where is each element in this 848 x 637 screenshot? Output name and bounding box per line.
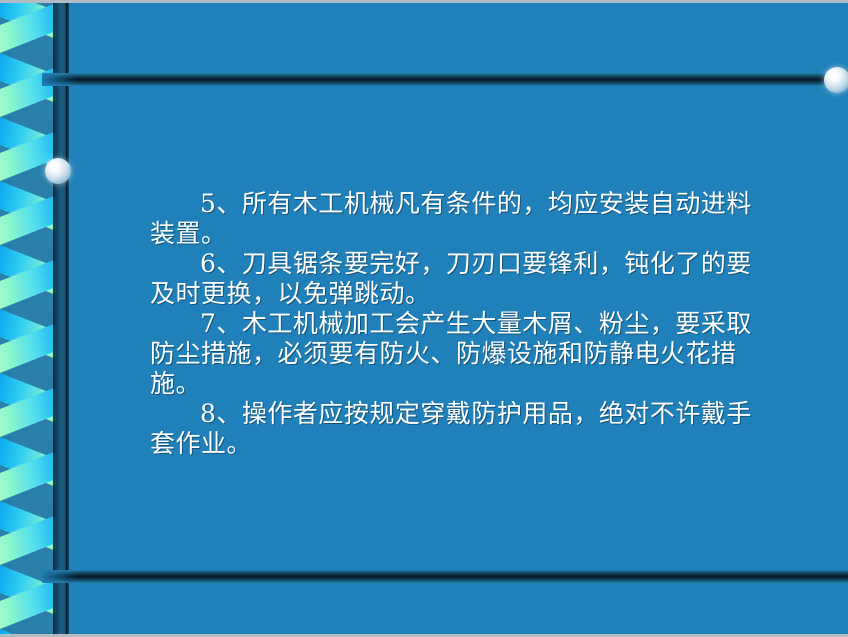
ribbon-fold bbox=[0, 629, 56, 634]
slide-body-text: 5、所有木工机械凡有条件的，均应安装自动进料装置。 6、刀具锯条要完好，刀刃口要… bbox=[150, 189, 775, 459]
ribbon-fold bbox=[0, 245, 56, 309]
ribbon-fold bbox=[0, 501, 56, 565]
body-paragraph: 6、刀具锯条要完好，刀刃口要锋利，钝化了的要及时更换，以免弹跳动。 bbox=[150, 249, 775, 309]
body-paragraph: 7、木工机械加工会产生大量木屑、粉尘，要采取防尘措施，必须要有防火、防爆设施和防… bbox=[150, 309, 775, 399]
ribbon-fold bbox=[0, 373, 56, 437]
body-paragraph: 5、所有木工机械凡有条件的，均应安装自动进料装置。 bbox=[150, 189, 775, 249]
horizontal-divider-bottom bbox=[42, 570, 848, 583]
ribbon-fold bbox=[0, 437, 56, 501]
zigzag-ribbon-decoration bbox=[0, 3, 56, 634]
ribbon-fold bbox=[0, 309, 56, 373]
bullet-sphere-right bbox=[824, 67, 848, 93]
presentation-slide: 5、所有木工机械凡有条件的，均应安装自动进料装置。 6、刀具锯条要完好，刀刃口要… bbox=[0, 0, 848, 637]
body-paragraph: 8、操作者应按规定穿戴防护用品，绝对不许戴手套作业。 bbox=[150, 399, 775, 459]
bullet-sphere-left bbox=[45, 158, 71, 184]
horizontal-divider-top bbox=[42, 73, 848, 86]
ribbon-fold bbox=[0, 181, 56, 245]
ribbon-fold bbox=[0, 3, 56, 53]
vertical-accent-bar-edge bbox=[66, 3, 69, 634]
